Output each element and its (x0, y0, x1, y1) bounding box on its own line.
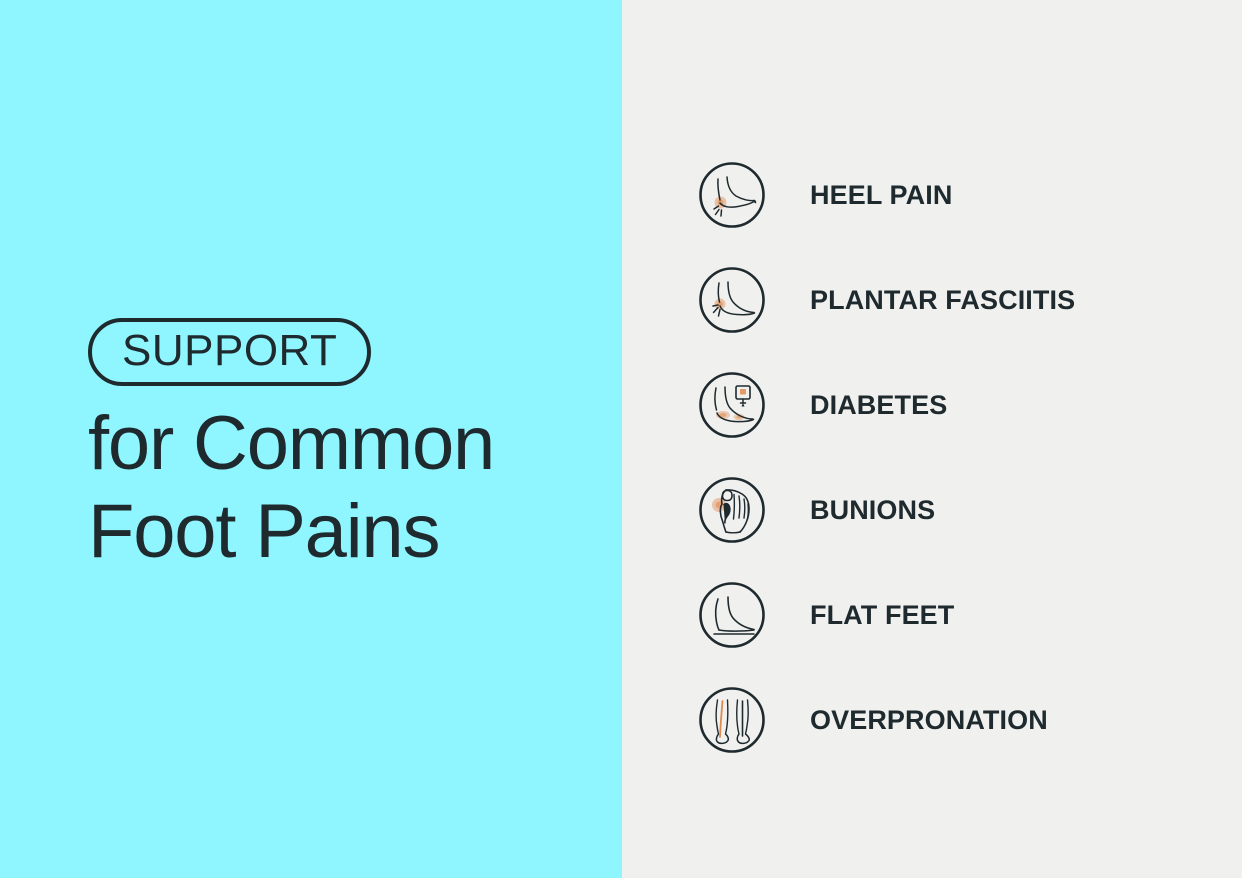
right-conditions-panel: HEEL PAIN PLA (622, 0, 1242, 878)
list-item: PLANTAR FASCIITIS (699, 267, 1075, 333)
condition-label: DIABETES (810, 392, 947, 419)
condition-label: FLAT FEET (810, 602, 954, 629)
list-item: DIABETES (699, 372, 1075, 438)
list-item: HEEL PAIN (699, 162, 1075, 228)
condition-label: PLANTAR FASCIITIS (810, 287, 1075, 314)
foot-plantar-fasciitis-icon (699, 267, 765, 333)
foot-diabetes-glucose-meter-icon (699, 372, 765, 438)
list-item: BUNIONS (699, 477, 1075, 543)
support-pill-label: SUPPORT (122, 329, 337, 373)
list-item: FLAT FEET (699, 582, 1075, 648)
ankles-overpronation-icon (699, 687, 765, 753)
condition-list: HEEL PAIN PLA (699, 162, 1075, 753)
page-title: for Common Foot Pains (88, 400, 494, 576)
foot-bunion-icon (699, 477, 765, 543)
left-title-panel: SUPPORT for Common Foot Pains (0, 0, 622, 878)
list-item: OVERPRONATION (699, 687, 1075, 753)
support-pill-badge: SUPPORT (88, 318, 371, 386)
condition-label: OVERPRONATION (810, 707, 1048, 734)
condition-label: BUNIONS (810, 497, 935, 524)
headline-block: SUPPORT for Common Foot Pains (88, 318, 494, 576)
foot-flat-arch-icon (699, 582, 765, 648)
infographic-page: SUPPORT for Common Foot Pains (0, 0, 1242, 878)
condition-label: HEEL PAIN (810, 182, 952, 209)
headline-line-2: Foot Pains (88, 488, 494, 576)
headline-line-1: for Common (88, 400, 494, 488)
foot-heel-pain-icon (699, 162, 765, 228)
